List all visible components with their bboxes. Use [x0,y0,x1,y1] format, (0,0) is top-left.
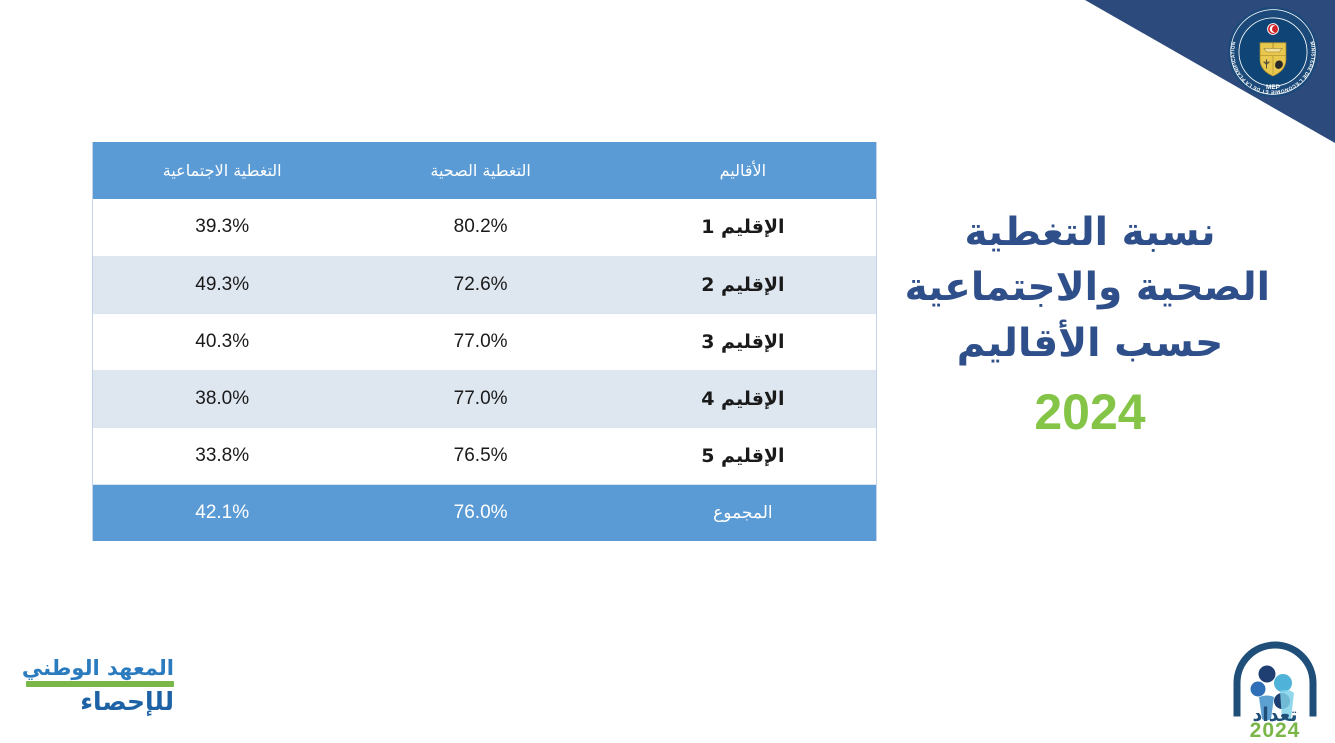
column-header-social-coverage: التغطية الاجتماعية [93,142,351,199]
title-line-2: الصحية والاجتماعية [910,260,1270,315]
cell-health: 72.6% [351,256,609,313]
cell-health: 76.5% [351,427,609,484]
table-row: الإقليم 3 77.0% 40.3% [93,313,876,370]
ins-logo-line-2: للإحصاء [14,689,174,715]
cell-social: 49.3% [93,256,351,313]
table-row: الإقليم 5 76.5% 33.8% [93,427,876,484]
cell-health: 77.0% [351,370,609,427]
table-header-row: الأقاليم التغطية الصحية التغطية الاجتماع… [93,142,876,199]
cell-region: الإقليم 4 [610,370,876,427]
ins-logo: المعهد الوطني للإحصاء [14,657,174,735]
census-2024-logo: تعداد 2024 [1223,639,1327,739]
cell-region: الإقليم 3 [610,313,876,370]
cell-region: الإقليم 5 [610,427,876,484]
cell-health: 80.2% [351,199,609,256]
cell-total-health: 76.0% [351,484,609,541]
cell-region: الإقليم 1 [610,199,876,256]
cell-total-social: 42.1% [93,484,351,541]
cell-health: 77.0% [351,313,609,370]
table-body: الإقليم 1 80.2% 39.3% الإقليم 2 72.6% 49… [93,199,876,541]
ministry-seal-icon: MINISTERE DE L'ECONOMIE ET DE LA PLANIFI… [1227,6,1319,98]
cell-total-label: المجموع [610,484,876,541]
table-header: الأقاليم التغطية الصحية التغطية الاجتماع… [93,142,876,199]
cell-social: 33.8% [93,427,351,484]
ins-logo-line-1: المعهد الوطني [14,657,174,679]
table-row: الإقليم 2 72.6% 49.3% [93,256,876,313]
cell-social: 40.3% [93,313,351,370]
cell-social: 38.0% [93,370,351,427]
title-line-3: حسب الأقاليم [910,316,1270,371]
title-line-1: نسبة التغطية [910,205,1270,260]
svg-text:MEP: MEP [1266,84,1281,91]
column-header-region: الأقاليم [610,142,876,199]
table-row: الإقليم 4 77.0% 38.0% [93,370,876,427]
page-title: نسبة التغطية الصحية والاجتماعية حسب الأق… [910,205,1270,437]
coverage-table-container: الأقاليم التغطية الصحية التغطية الاجتماع… [92,142,877,541]
slide-canvas: MINISTERE DE L'ECONOMIE ET DE LA PLANIFI… [0,0,1335,743]
title-year: 2024 [910,387,1270,437]
table-total-row: المجموع 76.0% 42.1% [93,484,876,541]
cell-social: 39.3% [93,199,351,256]
table-row: الإقليم 1 80.2% 39.3% [93,199,876,256]
svg-text:2024: 2024 [1250,719,1301,739]
column-header-health-coverage: التغطية الصحية [351,142,609,199]
coverage-table: الأقاليم التغطية الصحية التغطية الاجتماع… [93,142,876,541]
cell-region: الإقليم 2 [610,256,876,313]
